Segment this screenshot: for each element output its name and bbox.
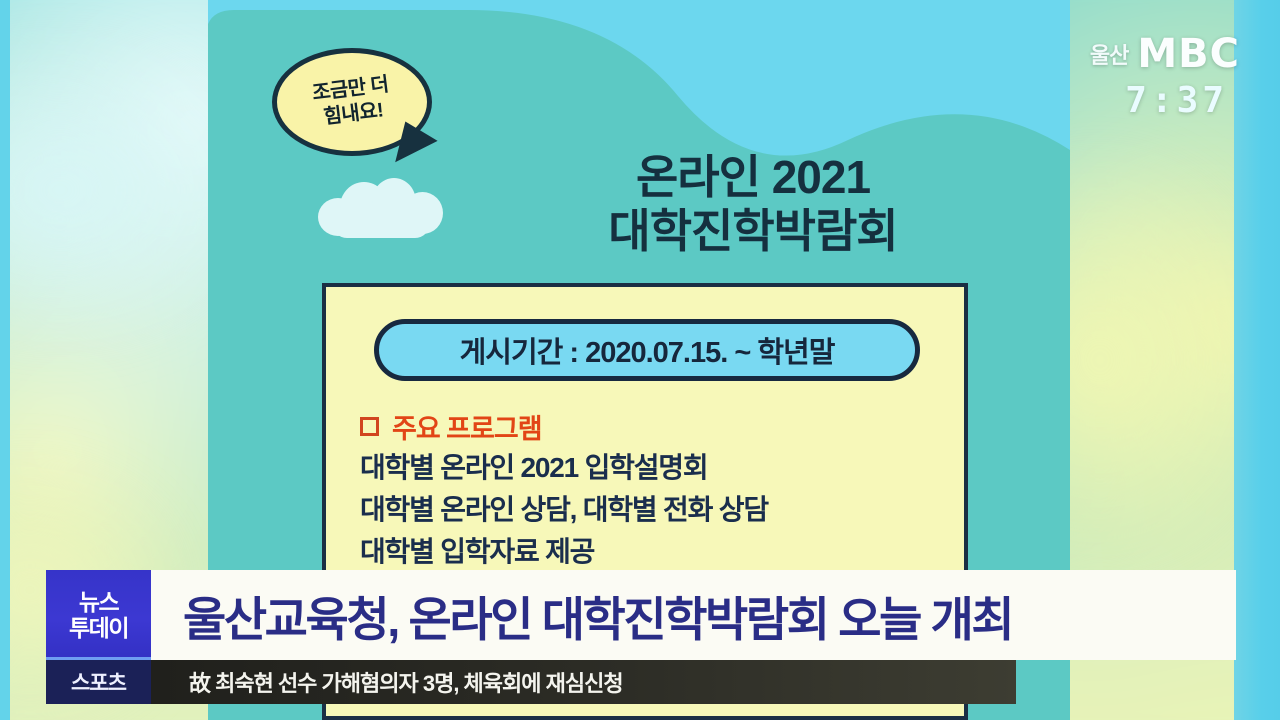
speech-bubble-line-2: 힘내요! (322, 99, 384, 129)
program-list: 대학별 온라인 2021 입학설명회 대학별 온라인 상담, 대학별 전화 상담… (360, 447, 940, 573)
speech-bubble-text: 조금만 더 힘내요! (266, 39, 438, 166)
onscreen-clock: 7:37 (1090, 80, 1240, 121)
period-pill: 게시기간 : 2020.07.15. ~ 학년말 (374, 319, 920, 381)
program-item: 대학별 입학자료 제공 (360, 531, 940, 573)
broadcaster-logo-row: 울산 MBC (1090, 36, 1240, 72)
program-badge-line-1: 뉴스 (79, 590, 118, 615)
news-ticker: 故 최숙현 선수 가해혐의자 3명, 체육회에 재심신청 (151, 660, 1016, 704)
station-region-label: 울산 (1090, 38, 1128, 70)
program-item: 대학별 온라인 상담, 대학별 전화 상담 (360, 489, 940, 531)
headline-bar: 울산교육청, 온라인 대학진학박람회 오늘 개최 (151, 570, 1236, 660)
program-item: 대학별 온라인 2021 입학설명회 (360, 447, 940, 489)
section-tab-sports: 스포츠 (46, 660, 151, 704)
program-heading-label: 주요 프로그램 (392, 407, 542, 446)
checkbox-square-icon (360, 417, 379, 436)
program-badge-line-2: 투데이 (69, 616, 128, 641)
left-edge-strip (0, 0, 10, 720)
program-heading-row: 주요 프로그램 (360, 407, 542, 446)
right-edge-strip (1234, 0, 1280, 720)
headline-text: 울산교육청, 온라인 대학진학박람회 오늘 개최 (183, 581, 1012, 650)
lower-third: 뉴스 투데이 울산교육청, 온라인 대학진학박람회 오늘 개최 스포츠 故 최숙… (46, 570, 1236, 720)
broadcaster-bug: 울산 MBC 7:37 (1090, 36, 1240, 121)
broadcast-frame: 조금만 더 힘내요! 온라인 2021 대학진학박람회 게시기간 : 2020.… (0, 0, 1280, 720)
poster-title-line-2: 대학진학박람회 (463, 204, 1043, 258)
mbc-logo: MBC (1137, 36, 1240, 72)
poster-title-line-1: 온라인 2021 (463, 150, 1043, 204)
poster-title: 온라인 2021 대학진학박람회 (463, 150, 1043, 259)
program-badge: 뉴스 투데이 (46, 570, 151, 660)
cloud-icon (318, 178, 443, 238)
ticker-text: 故 최숙현 선수 가해혐의자 3명, 체육회에 재심신청 (189, 666, 623, 698)
